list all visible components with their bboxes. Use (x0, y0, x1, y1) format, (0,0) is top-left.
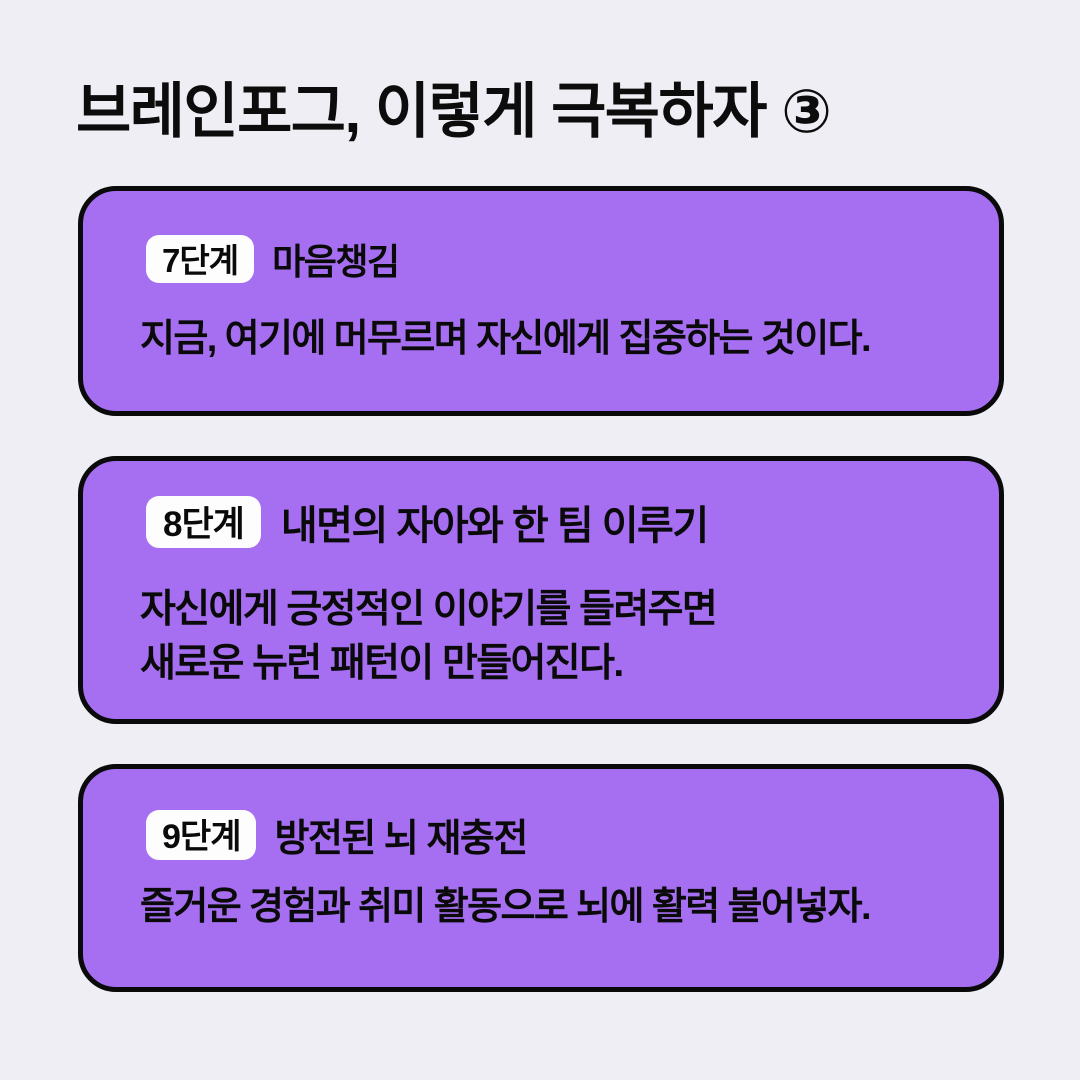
step-badge: 7단계 (146, 235, 254, 283)
step-title: 방전된 뇌 재충전 (274, 807, 526, 862)
step-title: 마음챙김 (272, 233, 398, 285)
step-description: 자신에게 긍정적인 이야기를 들려주면 새로운 뉴런 패턴이 만들어진다. (140, 583, 716, 691)
step-card: 7단계 마음챙김 지금, 여기에 머무르며 자신에게 집중하는 것이다. (78, 186, 1004, 416)
step-card: 8단계 내면의 자아와 한 팀 이루기 자신에게 긍정적인 이야기를 들려주면 … (78, 456, 1004, 724)
step-description: 즐거운 경험과 취미 활동으로 뇌에 활력 불어넣자. (140, 881, 870, 933)
step-description: 지금, 여기에 머무르며 자신에게 집중하는 것이다. (140, 313, 870, 365)
step-card-header: 9단계 방전된 뇌 재충전 (146, 807, 527, 862)
page-title: 브레인포그, 이렇게 극복하자 ③ (76, 76, 1016, 148)
step-card-list: 7단계 마음챙김 지금, 여기에 머무르며 자신에게 집중하는 것이다. 8단계… (78, 186, 1004, 992)
step-badge: 8단계 (146, 496, 261, 548)
step-card-header: 8단계 내면의 자아와 한 팀 이루기 (146, 493, 708, 551)
step-card: 9단계 방전된 뇌 재충전 즐거운 경험과 취미 활동으로 뇌에 활력 불어넣자… (78, 764, 1004, 992)
step-badge: 9단계 (146, 810, 256, 860)
infographic-page: 브레인포그, 이렇게 극복하자 ③ 7단계 마음챙김 지금, 여기에 머무르며 … (0, 0, 1080, 1080)
step-title: 내면의 자아와 한 팀 이루기 (281, 493, 708, 551)
step-card-header: 7단계 마음챙김 (146, 233, 399, 285)
